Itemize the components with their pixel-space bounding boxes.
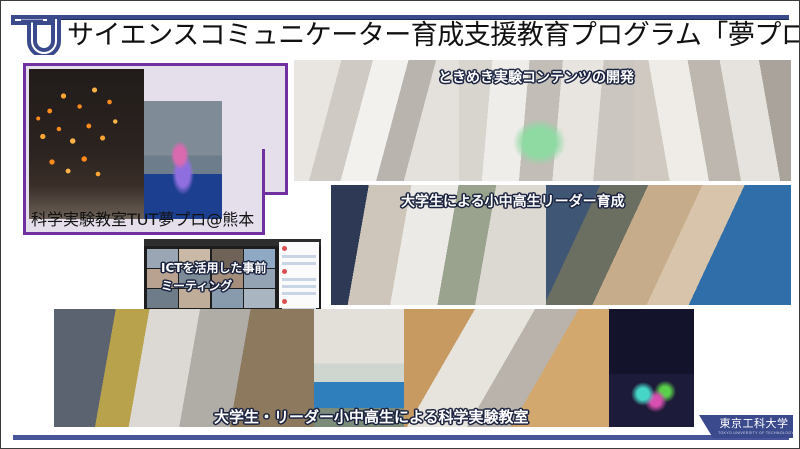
tut-logo-icon (9, 11, 61, 55)
caption-ict-line1: ICTを活用した事前 (161, 259, 266, 276)
photo-bottom-4 (609, 309, 694, 427)
caption-leader: 大学生による小中高生リーダー育成 (401, 191, 625, 211)
slide: サイエンスコミュニケーター育成支援教育プログラム「夢プロ」 科学実験教室TUT夢… (0, 0, 800, 449)
photo-float (144, 101, 222, 219)
caption-tokimeki: ときめき実験コンテンツの開発 (438, 67, 634, 87)
zoom-chat-panel (279, 242, 319, 308)
university-name-jp: 東京工科大学 (718, 417, 790, 430)
photo-lab-right (634, 60, 791, 181)
kumamoto-caption: 科学実験教室TUT夢プロ@熊本 (31, 209, 249, 231)
caption-ict-line2: ミーティング (161, 277, 232, 294)
university-name-en: TOKYO UNIVERSITY OF TECHNOLOGY (718, 430, 790, 437)
university-badge: 東京工科大学 TOKYO UNIVERSITY OF TECHNOLOGY (699, 411, 793, 438)
photo-lanterns (29, 69, 144, 219)
page-title: サイエンスコミュニケーター育成支援教育プログラム「夢プロ」 (67, 18, 792, 54)
footer-divider (13, 435, 789, 440)
photo-lab-left (294, 60, 459, 181)
caption-bottom: 大学生・リーダー小中高生による科学実験教室 (214, 406, 529, 427)
